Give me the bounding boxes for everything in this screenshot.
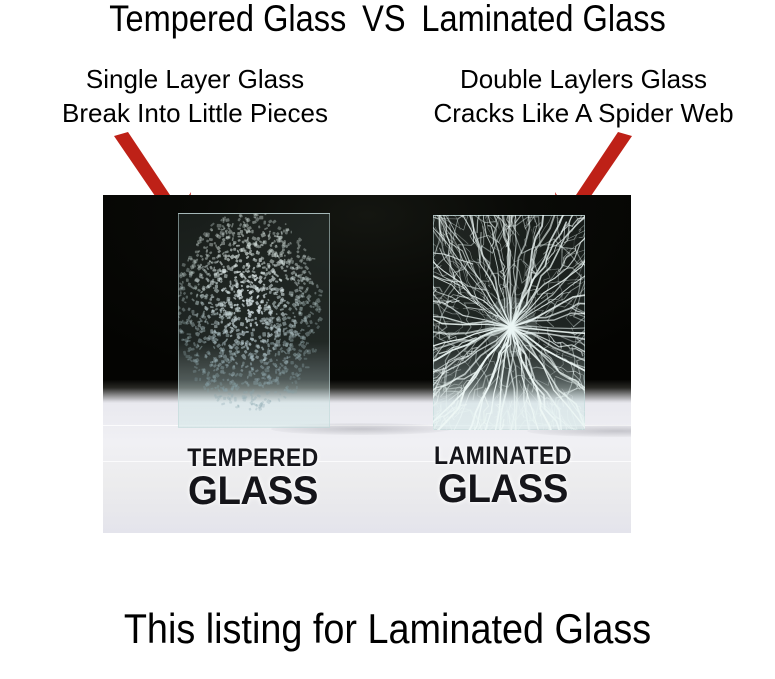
caption-tempered: Single Layer Glass Break Into Little Pie… — [0, 62, 390, 130]
caption-laminated-line-1: Double Laylers Glass — [392, 62, 775, 96]
title-left-product: Tempered Glass — [109, 0, 346, 39]
caption-tempered-line-2: Break Into Little Pieces — [0, 96, 390, 130]
caption-laminated: Double Laylers Glass Cracks Like A Spide… — [392, 62, 775, 130]
photo-label-tempered: TEMPERED GLASS — [138, 445, 368, 511]
photo-label-laminated-kind: LAMINATED — [397, 443, 609, 469]
caption-tempered-line-1: Single Layer Glass — [0, 62, 390, 96]
photo-label-tempered-glass: GLASS — [143, 471, 364, 511]
laminated-glass-panel — [433, 215, 585, 430]
glass-comparison-photo: TEMPERED GLASS LAMINATED GLASS — [103, 195, 631, 533]
photo-label-laminated-glass: GLASS — [393, 469, 614, 509]
photo-label-laminated: LAMINATED GLASS — [388, 443, 618, 509]
tempered-glass-panel — [178, 213, 330, 428]
photo-label-tempered-kind: TEMPERED — [147, 445, 359, 471]
title-versus: VS — [362, 0, 405, 39]
title-right-product: Laminated Glass — [421, 0, 665, 39]
laminated-break-pattern — [433, 215, 585, 430]
tempered-break-pattern — [178, 213, 330, 428]
caption-laminated-line-2: Cracks Like A Spider Web — [392, 96, 775, 130]
listing-note: This listing for Laminated Glass — [39, 604, 737, 654]
page-title: Tempered GlassVSLaminated Glass — [47, 0, 729, 40]
